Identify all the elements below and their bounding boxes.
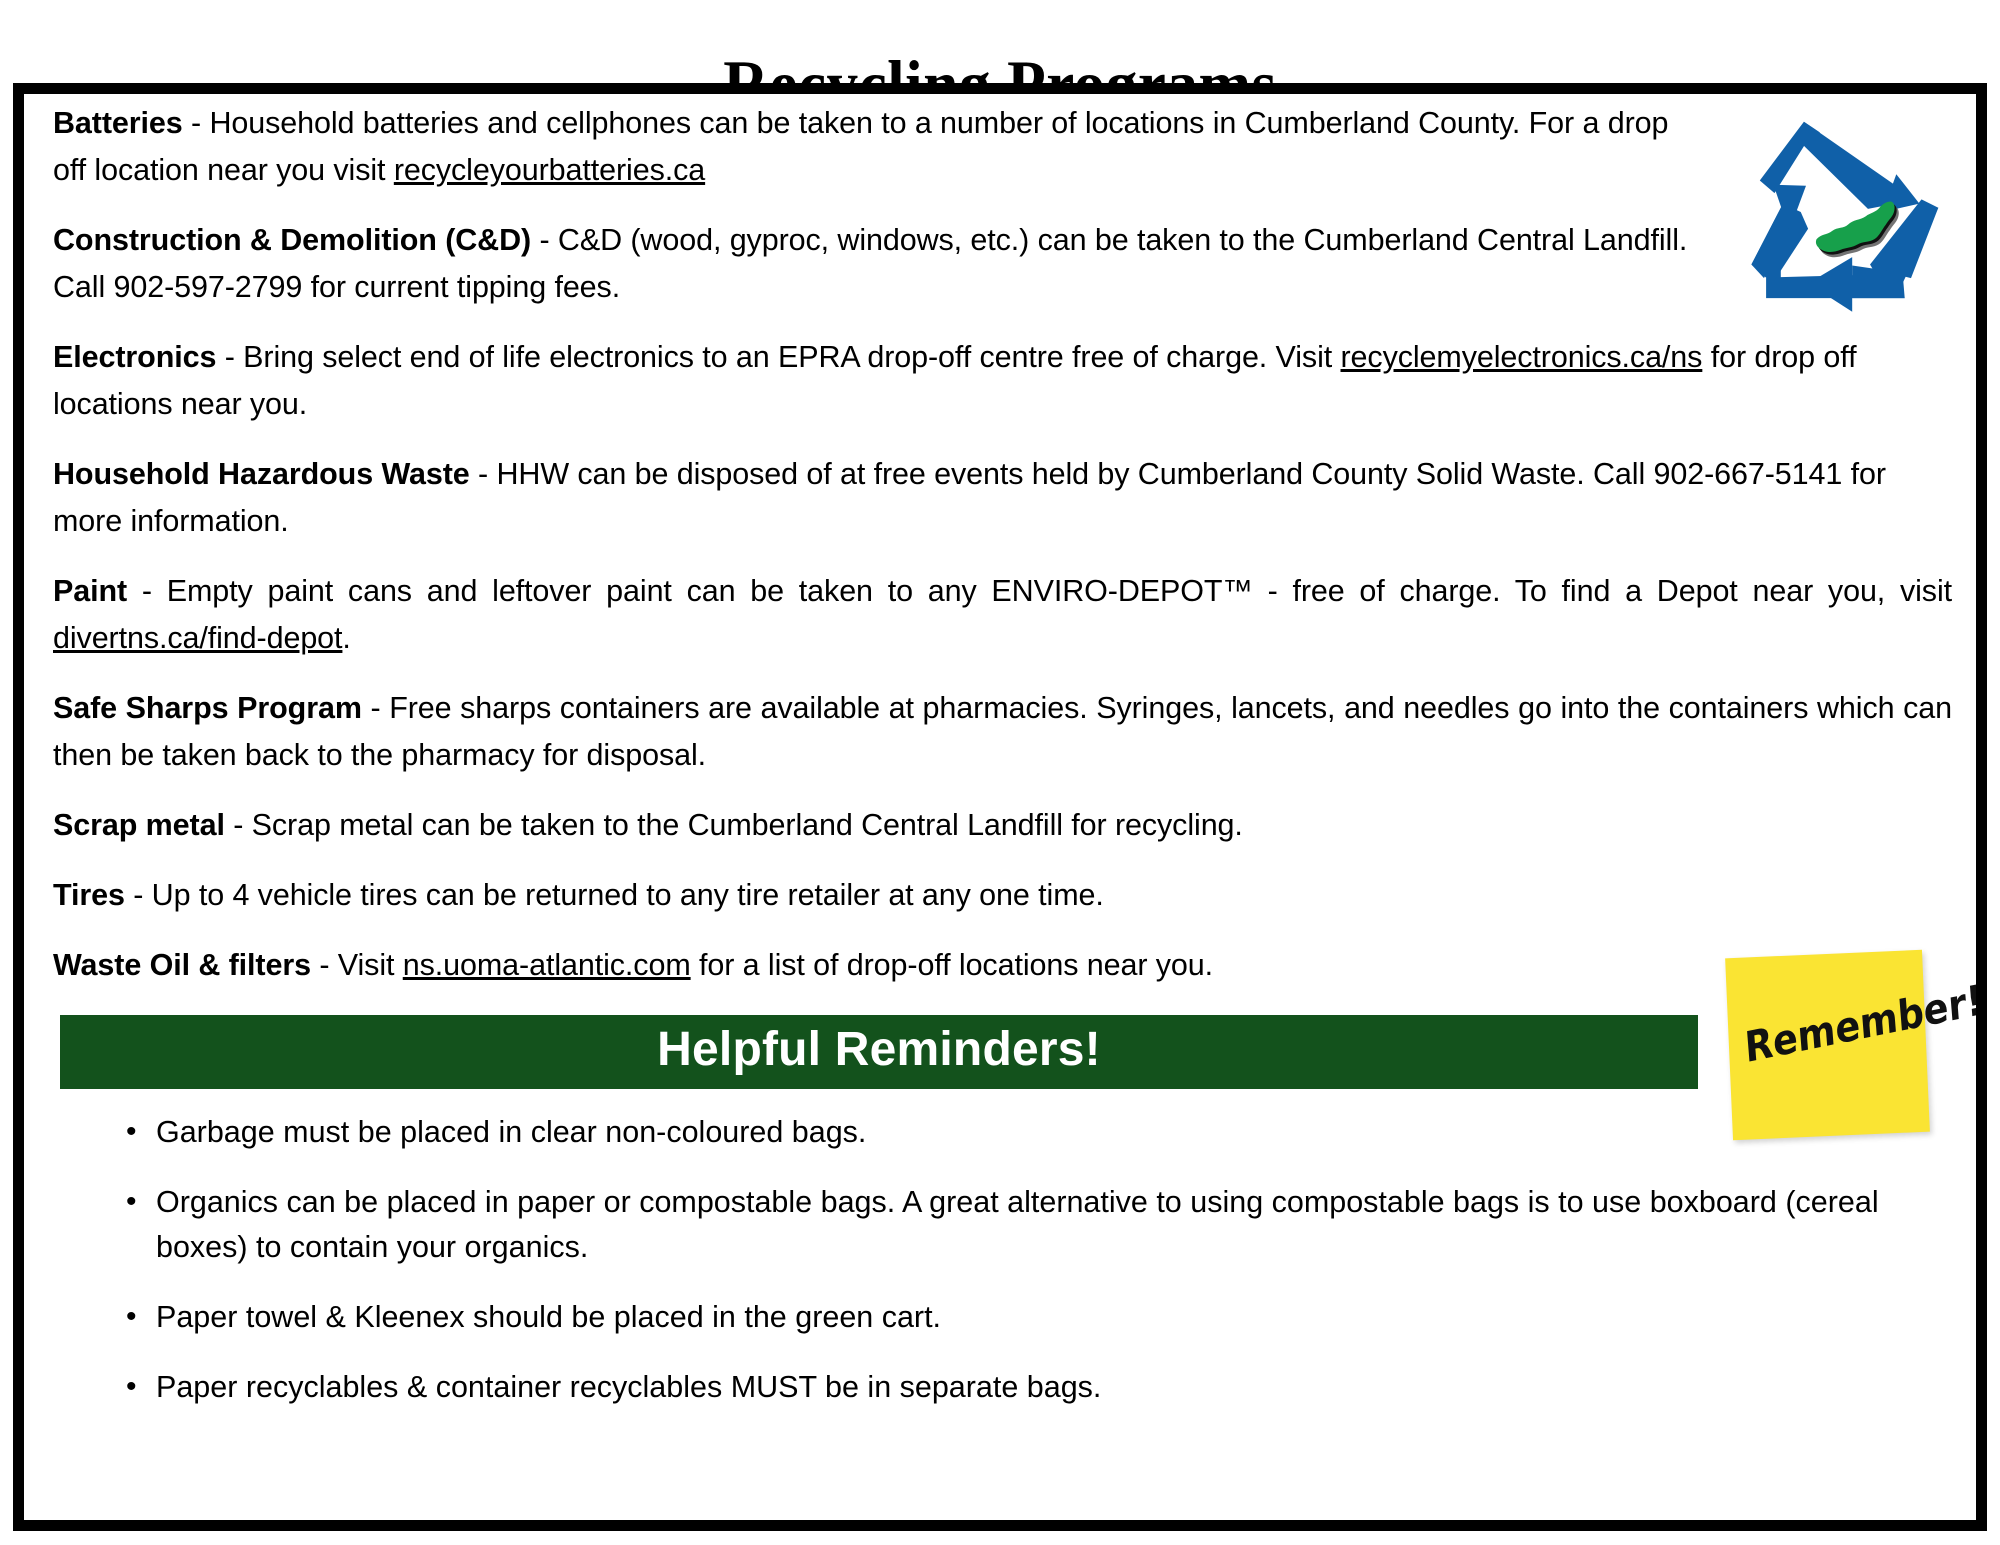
program-scrap-metal: Scrap metal - Scrap metal can be taken t… <box>53 802 1953 849</box>
program-body: Visit <box>338 948 403 982</box>
program-construction-demolition: Construction & Demolition (C&D) - C&D (w… <box>53 217 1693 311</box>
program-dash: - <box>362 691 389 725</box>
program-link[interactable]: divertns.ca/find-depot <box>53 621 342 655</box>
program-electronics: Electronics - Bring select end of life e… <box>53 334 1953 428</box>
program-paint: Paint - Empty paint cans and leftover pa… <box>53 568 1952 662</box>
program-term: Electronics <box>53 340 216 374</box>
banner-label: Helpful Reminders! <box>657 1026 1101 1074</box>
program-term: Batteries <box>53 106 183 140</box>
list-item: Paper recyclables & container recyclable… <box>126 1365 1956 1410</box>
program-link[interactable]: recycleyourbatteries.ca <box>394 153 705 187</box>
program-body: Scrap metal can be taken to the Cumberla… <box>252 808 1243 842</box>
programs-list: Batteries - Household batteries and cell… <box>53 100 1953 1012</box>
program-term: Paint <box>53 574 127 608</box>
program-dash: - <box>183 106 210 140</box>
program-dash: - <box>127 574 167 608</box>
program-body-tail: for a list of drop-off locations near yo… <box>691 948 1213 982</box>
program-tires: Tires - Up to 4 vehicle tires can be ret… <box>53 872 1953 919</box>
program-dash: - <box>216 340 243 374</box>
program-body: Up to 4 vehicle tires can be returned to… <box>152 878 1104 912</box>
helpful-reminders-banner: Helpful Reminders! <box>60 1015 1698 1089</box>
list-item: Garbage must be placed in clear non-colo… <box>126 1110 1956 1155</box>
program-term: Tires <box>53 878 125 912</box>
program-dash: - <box>531 223 558 257</box>
program-term: Waste Oil & filters <box>53 948 311 982</box>
program-body-tail: . <box>342 621 350 655</box>
program-term: Safe Sharps Program <box>53 691 362 725</box>
program-term: Construction & Demolition (C&D) <box>53 223 531 257</box>
program-term: Household Hazardous Waste <box>53 457 470 491</box>
program-household-hazardous-waste: Household Hazardous Waste - HHW can be d… <box>53 451 1953 545</box>
program-dash: - <box>125 878 152 912</box>
program-term: Scrap metal <box>53 808 225 842</box>
program-body: Empty paint cans and leftover paint can … <box>167 574 1952 608</box>
program-batteries: Batteries - Household batteries and cell… <box>53 100 1693 194</box>
program-dash: - <box>470 457 497 491</box>
list-item: Organics can be placed in paper or compo… <box>126 1180 1956 1270</box>
program-dash: - <box>225 808 252 842</box>
program-body: Bring select end of life electronics to … <box>243 340 1340 374</box>
program-safe-sharps-program: Safe Sharps Program - Free sharps contai… <box>53 685 1952 779</box>
program-body: Household batteries and cellphones can b… <box>53 106 1668 187</box>
sticky-note-label: Remember! <box>1743 993 1915 1069</box>
program-link[interactable]: recyclemyelectronics.ca/ns <box>1341 340 1703 374</box>
recycling-programs-flyer: Recycling Programs <box>0 0 2000 1545</box>
program-link[interactable]: ns.uoma-atlantic.com <box>403 948 691 982</box>
program-waste-oil-filters: Waste Oil & filters - Visit ns.uoma-atla… <box>53 942 1953 989</box>
reminders-list: Garbage must be placed in clear non-colo… <box>84 1110 1956 1435</box>
list-item: Paper towel & Kleenex should be placed i… <box>126 1295 1956 1340</box>
content-frame: Batteries - Household batteries and cell… <box>13 83 1987 1531</box>
program-dash: - <box>311 948 338 982</box>
